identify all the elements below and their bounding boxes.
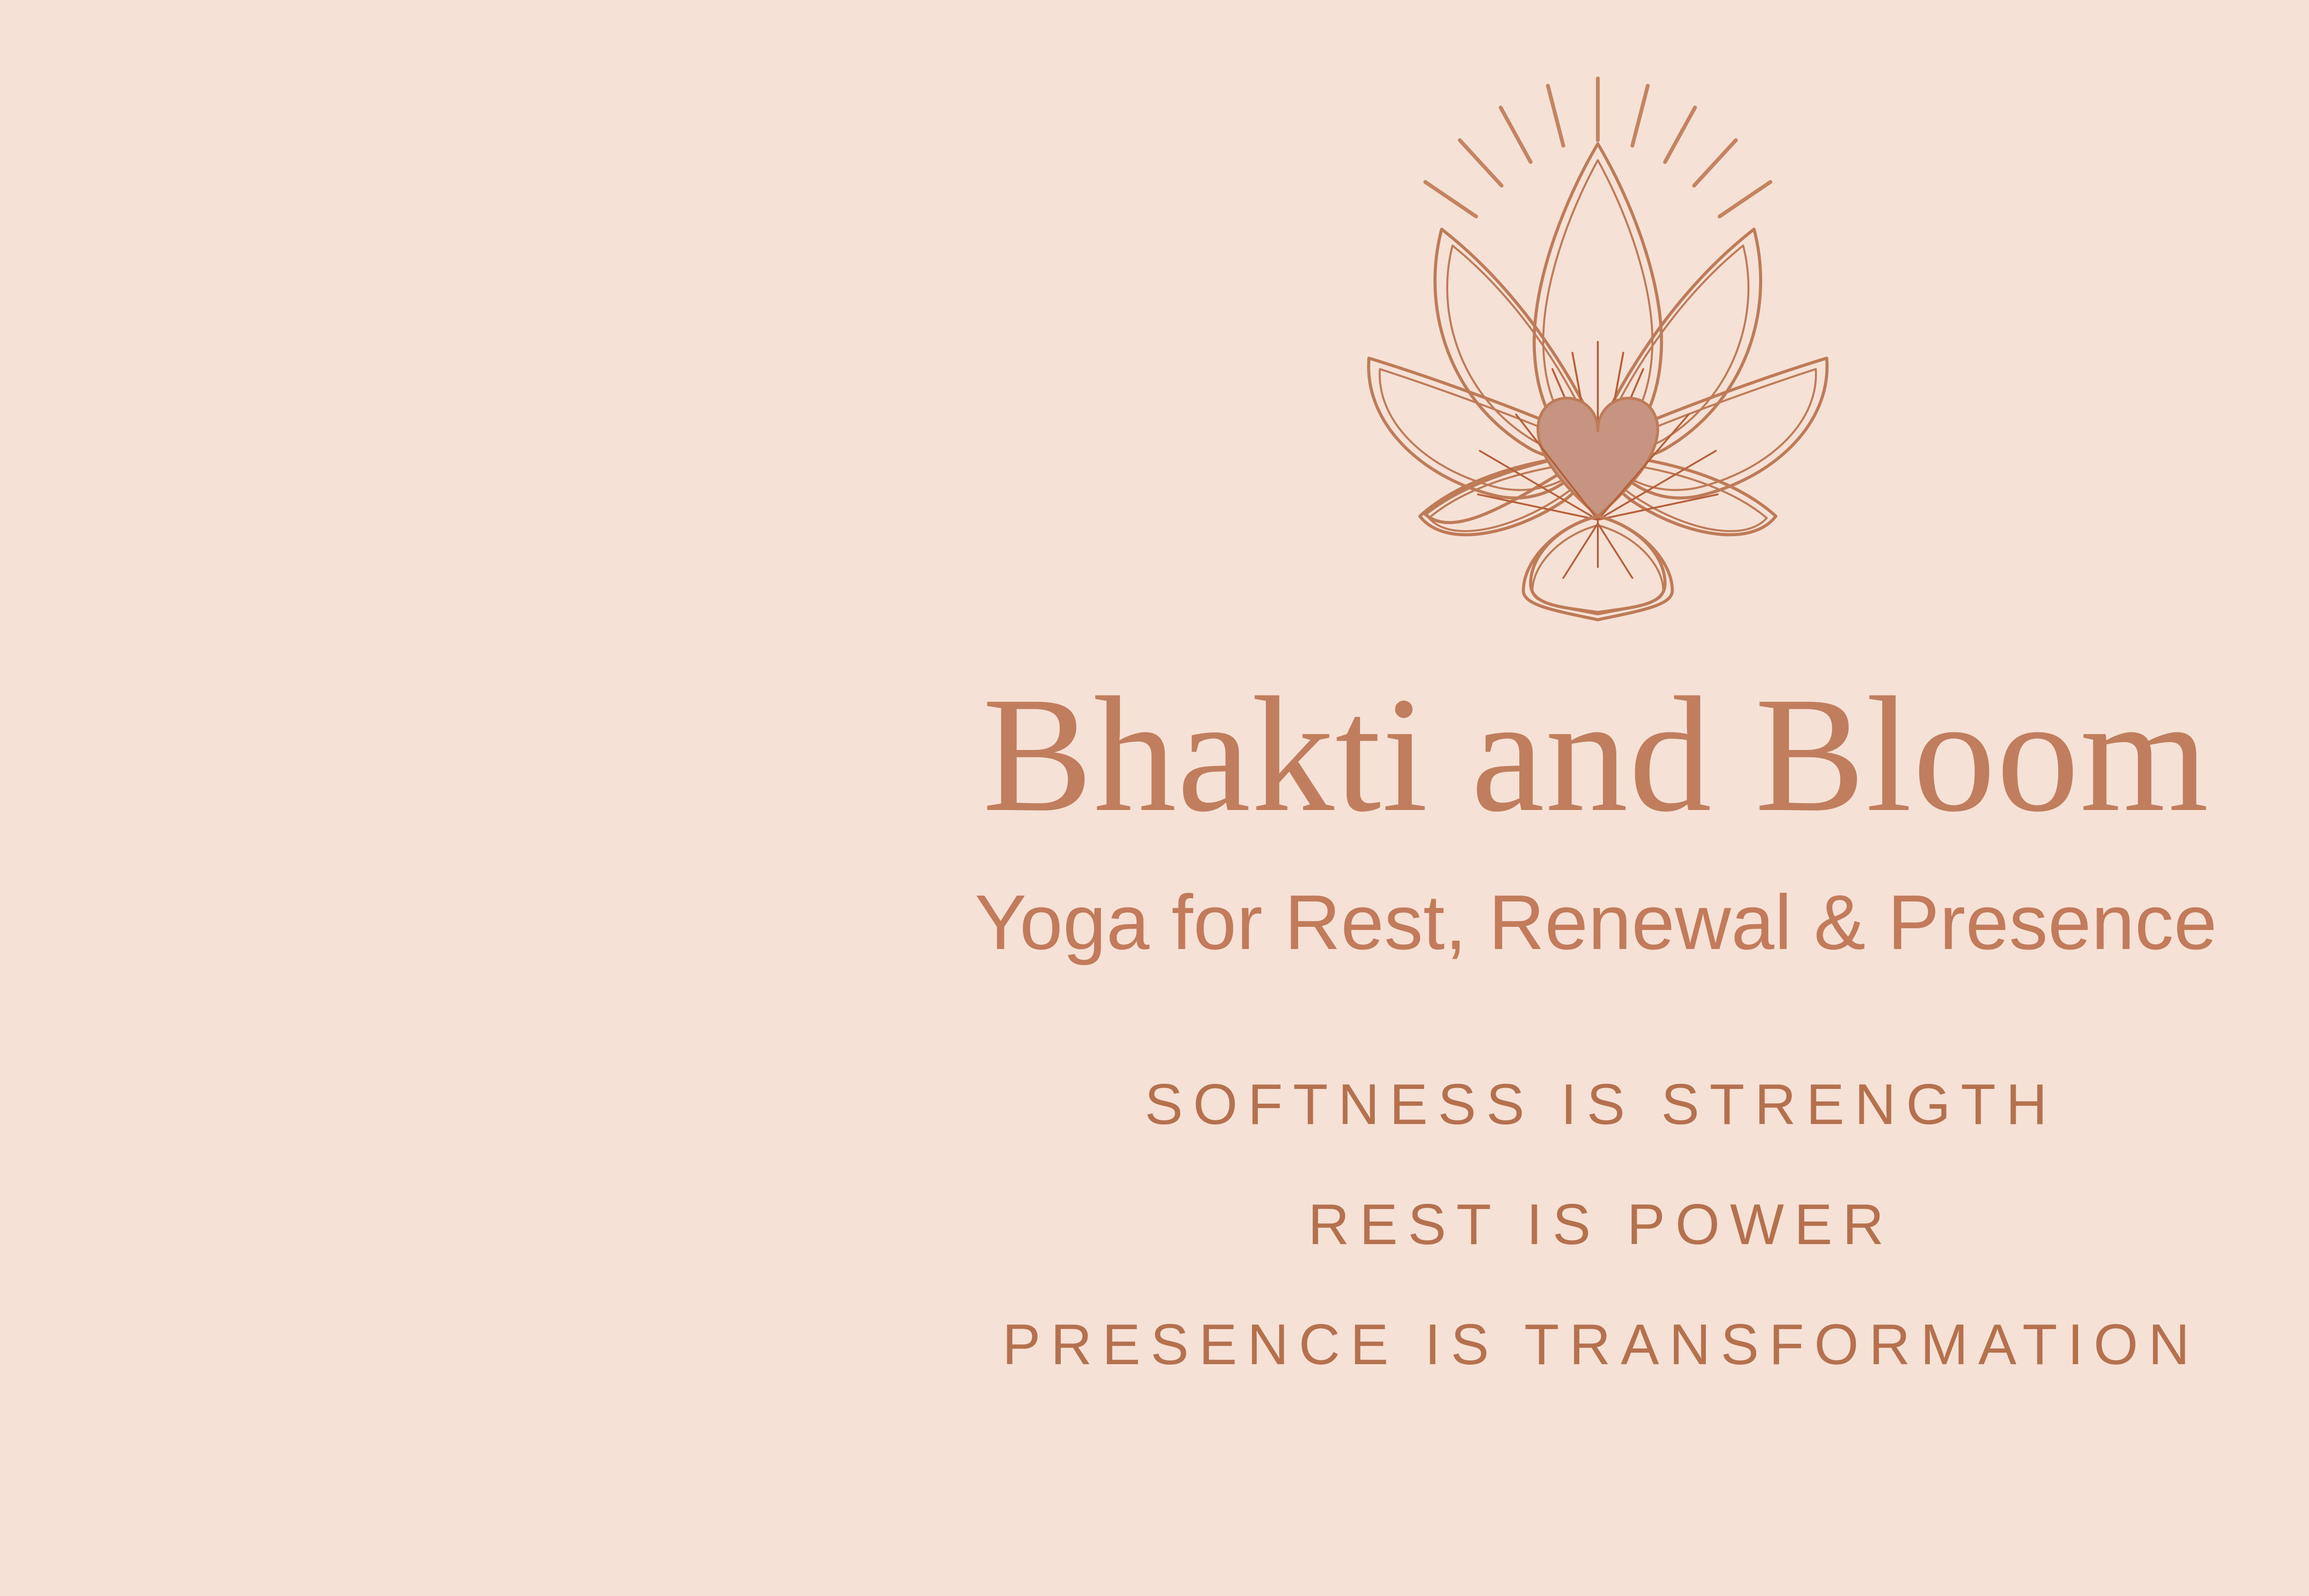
tagline-line-2: REST IS POWER bbox=[0, 1196, 2309, 1253]
ray-right-4 bbox=[1720, 182, 1771, 217]
ray-right-3 bbox=[1694, 140, 1735, 186]
ray-left-1 bbox=[1548, 86, 1563, 146]
brand-title: Bhakti and Bloom bbox=[0, 672, 2309, 837]
lotus-flower-with-rays-icon bbox=[1325, 69, 1870, 623]
tagline-line-1: SOFTNESS IS STRENGTH bbox=[0, 1076, 2309, 1133]
ray-right-1 bbox=[1632, 86, 1648, 146]
ray-right-2 bbox=[1665, 108, 1695, 162]
ray-left-3 bbox=[1460, 140, 1501, 186]
brand-banner: Bhakti and Bloom Yoga for Rest, Renewal … bbox=[0, 0, 2309, 1596]
brand-subtitle: Yoga for Rest, Renewal & Presence bbox=[0, 880, 2309, 965]
ray-left-4 bbox=[1425, 182, 1476, 217]
tagline-block: SOFTNESS IS STRENGTH REST IS POWER PRESE… bbox=[0, 1076, 2309, 1373]
ray-left-2 bbox=[1501, 108, 1531, 162]
tagline-line-3: PRESENCE IS TRANSFORMATION bbox=[0, 1316, 2309, 1373]
sunburst-rays-group bbox=[1425, 79, 1770, 217]
